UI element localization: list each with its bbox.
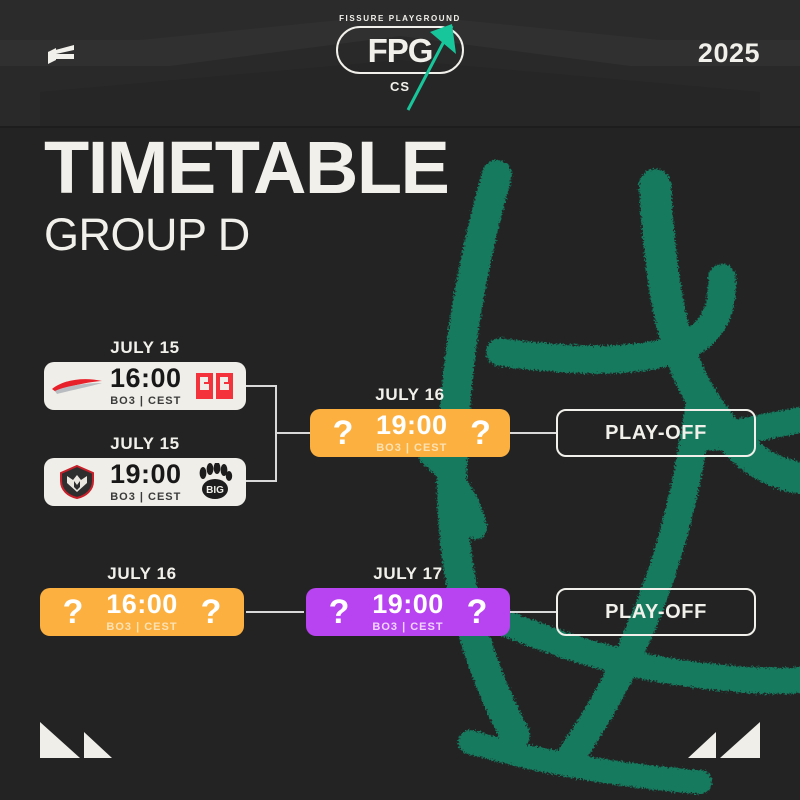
team-slot-left-m2: [44, 458, 110, 506]
team-swoosh-icon: [50, 376, 104, 396]
match-info-m2: 19:00 BO3 | CEST: [110, 461, 182, 503]
tbd-slot-right-m5: ?: [444, 588, 510, 636]
tbd-slot-left-m4: ?: [40, 588, 106, 636]
match-card-m1[interactable]: 16:00 BO3 | CEST: [44, 362, 246, 410]
match-date-m5: JULY 17: [306, 564, 510, 584]
question-mark-icon: ?: [63, 595, 84, 629]
question-mark-icon: ?: [470, 416, 491, 450]
match-format-m5: BO3 | CEST: [372, 621, 443, 633]
corner-triangles-right: [682, 716, 760, 758]
team-big-paw-icon: BIG: [195, 463, 235, 501]
timetable-poster: 2025 FISSURE PLAYGROUND FPG CS TIMETABLE…: [0, 0, 800, 800]
match-info-m4: 16:00 BO3 | CEST: [106, 591, 178, 633]
match-info-m1: 16:00 BO3 | CEST: [110, 365, 182, 407]
match-card-m4[interactable]: ? 16:00 BO3 | CEST ?: [40, 588, 244, 636]
playoff-box-upper[interactable]: PLAY-OFF: [556, 409, 756, 457]
match-time-m2: 19:00: [110, 461, 182, 488]
team-slot-left-m1: [44, 362, 110, 410]
match-time-m3: 19:00: [376, 412, 448, 439]
bracket: JULY 15 16:00 BO3 | CEST: [0, 0, 800, 800]
question-mark-icon: ?: [333, 416, 354, 450]
question-mark-icon: ?: [201, 595, 222, 629]
match-card-m2[interactable]: 19:00 BO3 | CEST BIG: [44, 458, 246, 506]
tbd-slot-left-m5: ?: [306, 588, 372, 636]
match-date-m4: JULY 16: [40, 564, 244, 584]
team-bb-icon: [195, 371, 235, 401]
team-slot-right-m1: [182, 362, 248, 410]
match-info-m3: 19:00 BO3 | CEST: [376, 412, 448, 454]
team-slot-right-m2: BIG: [182, 458, 248, 506]
match-card-m3[interactable]: ? 19:00 BO3 | CEST ?: [310, 409, 510, 457]
match-format-m3: BO3 | CEST: [376, 442, 447, 454]
tbd-slot-right-m3: ?: [448, 409, 514, 457]
team-crest-icon: [58, 464, 96, 500]
match-date-m1: JULY 15: [44, 338, 246, 358]
playoff-label: PLAY-OFF: [605, 422, 707, 445]
match-date-m2: JULY 15: [44, 434, 246, 454]
match-date-m3: JULY 16: [310, 385, 510, 405]
tbd-slot-left-m3: ?: [310, 409, 376, 457]
match-info-m5: 19:00 BO3 | CEST: [372, 591, 444, 633]
match-time-m5: 19:00: [372, 591, 444, 618]
playoff-box-lower[interactable]: PLAY-OFF: [556, 588, 756, 636]
match-format-m4: BO3 | CEST: [106, 621, 177, 633]
match-card-m5[interactable]: ? 19:00 BO3 | CEST ?: [306, 588, 510, 636]
question-mark-icon: ?: [467, 595, 488, 629]
match-format-m2: BO3 | CEST: [110, 491, 181, 503]
corner-triangles-left: [40, 716, 118, 758]
playoff-label: PLAY-OFF: [605, 601, 707, 624]
question-mark-icon: ?: [329, 595, 350, 629]
svg-text:BIG: BIG: [206, 485, 224, 496]
match-time-m1: 16:00: [110, 365, 182, 392]
tbd-slot-right-m4: ?: [178, 588, 244, 636]
match-time-m4: 16:00: [106, 591, 178, 618]
match-format-m1: BO3 | CEST: [110, 395, 181, 407]
